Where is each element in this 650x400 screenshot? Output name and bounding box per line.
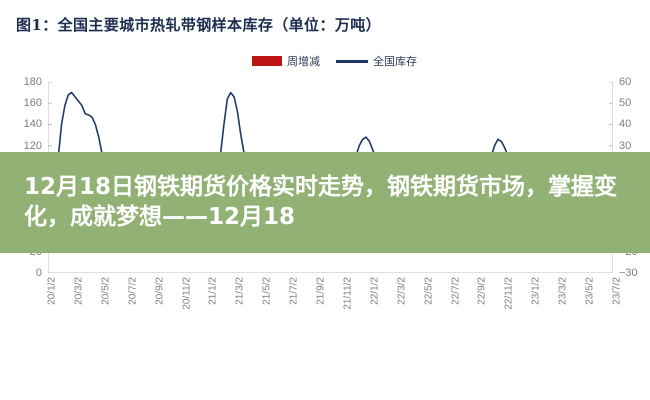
headline-overlay-band: 12月18日钢铁期货价格实时走势，钢铁期货市场，掌握变化，成就梦想——12月18	[0, 152, 650, 253]
x-tick-21-9-2: 21/9/2	[316, 277, 327, 305]
x-tick-22-5-2: 22/5/2	[423, 277, 434, 305]
y-left-tick-140: 140	[24, 118, 42, 130]
x-tick-23-7-2: 23/7/2	[612, 277, 623, 305]
y-right-tick-50: 50	[619, 97, 631, 109]
y-left-tick-120: 120	[24, 140, 42, 152]
x-tick-20-7-2: 20/7/2	[127, 277, 138, 305]
x-tick-23-1-2: 23/1/2	[531, 277, 542, 305]
legend-item-national-inventory: 全国库存	[336, 53, 417, 69]
x-tick-21-5-2: 21/5/2	[262, 277, 273, 305]
legend-line-swatch-icon	[336, 60, 368, 63]
x-tick-22-9-2: 22/9/2	[477, 277, 488, 305]
x-tick-23-3-2: 23/3/2	[558, 277, 569, 305]
y-left-tick-160: 160	[24, 97, 42, 109]
legend-bar-swatch-icon	[252, 56, 282, 66]
x-tick-20-3-2: 20/3/2	[73, 277, 84, 305]
x-tick-21-3-2: 21/3/2	[235, 277, 246, 305]
y-right-tick-30: 30	[619, 140, 631, 152]
x-tick-22-11-2: 22/11/2	[504, 277, 515, 310]
x-tick-20-1-2: 20/1/2	[47, 277, 58, 305]
legend-label-national-inventory: 全国库存	[373, 53, 417, 69]
x-tick-20-5-2: 20/5/2	[100, 277, 111, 305]
x-tick-22-7-2: 22/7/2	[450, 277, 461, 305]
x-tick-20-9-2: 20/9/2	[154, 277, 165, 305]
page-title: 图1：全国主要城市热轧带钢样本库存（单位：万吨）	[16, 14, 381, 35]
chart-legend: 周增减 全国库存	[252, 53, 417, 69]
x-tick-23-5-2: 23/5/2	[585, 277, 596, 305]
x-tick-21-11-2: 21/11/2	[342, 277, 353, 310]
headline-text: 12月18日钢铁期货价格实时走势，钢铁期货市场，掌握变化，成就梦想——12月18	[12, 173, 638, 232]
x-tick-20-11-2: 20/11/2	[181, 277, 192, 310]
y-left-tick-180: 180	[24, 76, 42, 88]
legend-item-weekly-change: 周增减	[252, 53, 320, 69]
x-tick-22-3-2: 22/3/2	[396, 277, 407, 305]
chart-figure: 图1：全国主要城市热轧带钢样本库存（单位：万吨） 周增减 全国库存 020406…	[0, 0, 650, 400]
y-right-tick-60: 60	[619, 76, 631, 88]
y-left-tick-0: 0	[36, 267, 42, 279]
x-tick-22-1-2: 22/1/2	[369, 277, 380, 305]
x-tick-21-1-2: 21/1/2	[208, 277, 219, 305]
x-axis: 20/1/220/3/220/5/220/7/220/9/220/11/221/…	[48, 277, 613, 337]
x-tick-21-7-2: 21/7/2	[289, 277, 300, 305]
legend-label-weekly-change: 周增减	[287, 53, 320, 69]
y-right-tick-40: 40	[619, 118, 631, 130]
